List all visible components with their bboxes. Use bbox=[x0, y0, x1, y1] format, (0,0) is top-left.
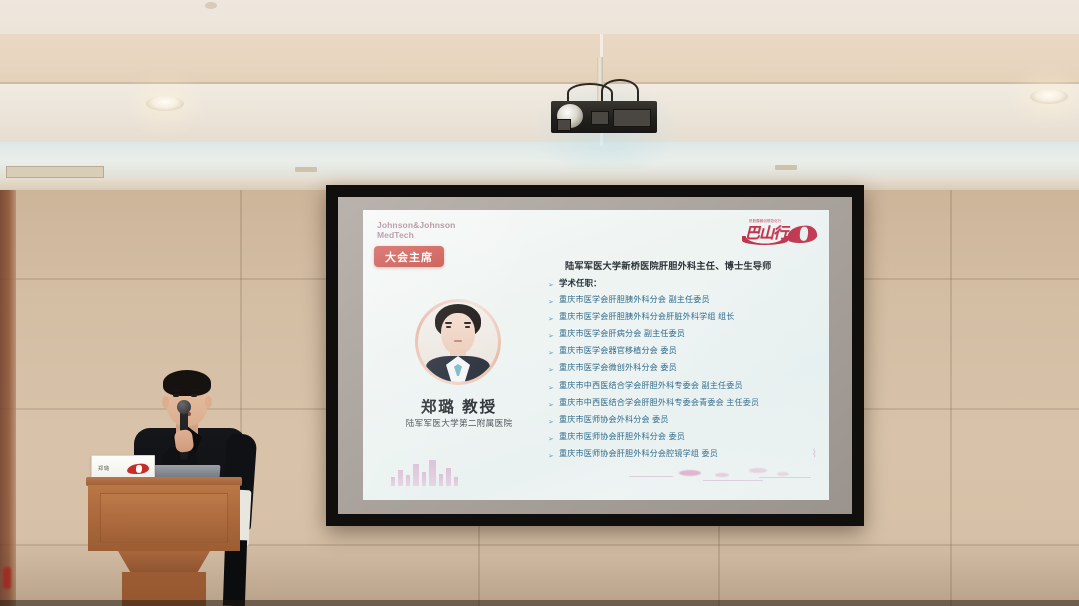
projector-port-panel-c bbox=[557, 119, 571, 131]
speaker-affiliation: 陆军军医大学第二附属医院 bbox=[377, 417, 541, 429]
sprinkler-icon bbox=[205, 2, 217, 9]
podium-column bbox=[118, 551, 210, 573]
ceiling-vent bbox=[6, 166, 104, 178]
chevron-right-icon: ➢ bbox=[548, 297, 559, 308]
avatar-face bbox=[441, 313, 475, 355]
ceiling-projector bbox=[551, 97, 657, 133]
microphone-head bbox=[177, 400, 191, 414]
list-item: ➢ 重庆市中西医结合学会肝胆外科专委会 副主任委员 bbox=[548, 382, 820, 393]
avatar-eye-right bbox=[465, 326, 470, 328]
name-card-liver-logo-icon bbox=[127, 463, 150, 475]
projector-body bbox=[551, 101, 657, 133]
speaker-ear-right bbox=[205, 396, 212, 408]
list-item: ➢ 学术任职： bbox=[548, 279, 820, 290]
ceiling-middle-band bbox=[0, 84, 1079, 146]
appointment-text: 重庆市医师协会肝胆外科分会 委员 bbox=[559, 433, 685, 442]
chevron-right-icon: ➢ bbox=[548, 331, 559, 342]
event-logo: 肝胆胰微创规范化行 巴山行 bbox=[739, 218, 817, 246]
speaker-eye-left bbox=[173, 394, 179, 397]
appointment-text: 重庆市医学会肝胆胰外科分会肝脏外科学组 组长 bbox=[559, 313, 735, 322]
projector-port-panel-b bbox=[613, 109, 651, 127]
appointment-text: 重庆市医学会肝胆胰外科分会 副主任委员 bbox=[559, 296, 710, 305]
event-logo-swoosh bbox=[742, 236, 788, 245]
list-item: ➢ 重庆市医学会肝胆胰外科分会 副主任委员 bbox=[548, 296, 820, 307]
podium-front-panel bbox=[88, 485, 240, 551]
avatar-brow-right bbox=[464, 322, 471, 324]
downlight-right bbox=[1030, 89, 1068, 104]
list-item: ➢ 重庆市医学会微创外科分会 委员 bbox=[548, 364, 820, 375]
ceiling-vent-small-right bbox=[775, 165, 797, 170]
projector-port-panel-a bbox=[591, 111, 609, 125]
projector-cable-b bbox=[601, 79, 639, 103]
podium-inset-panel bbox=[100, 493, 228, 543]
ceiling-upper-plane bbox=[0, 0, 1079, 38]
liver-shape-icon bbox=[786, 224, 818, 244]
speaker-ear-left bbox=[162, 396, 169, 408]
list-item: ➢ 重庆市医学会器官移植分会 委员 bbox=[548, 347, 820, 358]
chevron-right-icon: ➢ bbox=[548, 314, 559, 325]
list-item: ➢ 重庆市医学会肝病分会 副主任委员 bbox=[548, 330, 820, 341]
appointment-text: 重庆市中西医结合学会肝胆外科专委会 副主任委员 bbox=[559, 382, 743, 391]
avatar bbox=[415, 299, 501, 385]
chevron-right-icon: ➢ bbox=[548, 383, 559, 394]
speaker-name: 郑璐 教授 bbox=[381, 395, 537, 417]
credentials-list: 陆军军医大学新桥医院肝胆外科主任、博士生导师 ➢ 学术任职： ➢ 重庆市医学会肝… bbox=[548, 258, 820, 467]
appointment-text: 重庆市医学会微创外科分会 委员 bbox=[559, 364, 677, 373]
ceiling-beam-band bbox=[0, 34, 1079, 86]
city-skyline-decoration bbox=[389, 456, 467, 486]
speaker-hair bbox=[163, 370, 211, 396]
landscape-decoration bbox=[619, 456, 819, 490]
speaker-brow-right bbox=[190, 389, 199, 391]
speaker-hand bbox=[174, 429, 195, 453]
chevron-right-icon: ➢ bbox=[548, 365, 559, 376]
podium: 郑璐 bbox=[86, 455, 242, 606]
chevron-right-icon: ➢ bbox=[548, 280, 559, 291]
chevron-right-icon: ➢ bbox=[548, 348, 559, 359]
chevron-right-icon: ➢ bbox=[548, 451, 559, 462]
floor-strip bbox=[0, 600, 1079, 606]
projection-screen-frame: Johnson&Johnson MedTech 大会主席 肝胆胰微创规范化行 巴… bbox=[326, 185, 864, 526]
avatar-eye-left bbox=[446, 326, 451, 328]
appointment-text: 重庆市医学会器官移植分会 委员 bbox=[559, 347, 677, 356]
speaker-eye-right bbox=[191, 394, 197, 397]
speaker-brow-left bbox=[172, 389, 181, 391]
list-item: ➢ 重庆市医师协会肝胆外科分会 委员 bbox=[548, 433, 820, 444]
name-card-text: 郑璐 bbox=[98, 465, 110, 472]
chevron-right-icon: ➢ bbox=[548, 417, 559, 428]
section-label: 学术任职： bbox=[559, 279, 602, 288]
avatar-brow-left bbox=[445, 322, 452, 324]
presentation-slide: Johnson&Johnson MedTech 大会主席 肝胆胰微创规范化行 巴… bbox=[363, 210, 829, 500]
johnson-johnson-logo: Johnson&Johnson MedTech bbox=[377, 221, 455, 240]
speaker-headline: 陆军军医大学新桥医院肝胆外科主任、博士生导师 bbox=[565, 258, 820, 272]
brand-line-2: MedTech bbox=[377, 231, 455, 241]
appointment-text: 重庆市中西医结合学会肝胆外科专委会青委会 主任委员 bbox=[559, 399, 759, 408]
downlight-left bbox=[146, 96, 184, 111]
status-badge: 大会主席 bbox=[374, 246, 444, 267]
conference-room-photo: Johnson&Johnson MedTech 大会主席 肝胆胰微创规范化行 巴… bbox=[0, 0, 1079, 606]
list-item: ➢ 重庆市中西医结合学会肝胆外科专委会青委会 主任委员 bbox=[548, 399, 820, 410]
list-item: ➢ 重庆市医师协会外科分会 委员 bbox=[548, 416, 820, 427]
chevron-right-icon: ➢ bbox=[548, 434, 559, 445]
appointment-text: 重庆市医师协会外科分会 委员 bbox=[559, 416, 669, 425]
brush-mark-decoration: ⌇ bbox=[812, 447, 817, 460]
avatar-photo bbox=[418, 302, 498, 382]
ceiling-vent-small-left bbox=[295, 167, 317, 172]
avatar-mouth bbox=[454, 340, 462, 342]
appointment-text: 重庆市医学会肝病分会 副主任委员 bbox=[559, 330, 685, 339]
list-item: ➢ 重庆市医学会肝胆胰外科分会肝脏外科学组 组长 bbox=[548, 313, 820, 324]
chevron-right-icon: ➢ bbox=[548, 400, 559, 411]
